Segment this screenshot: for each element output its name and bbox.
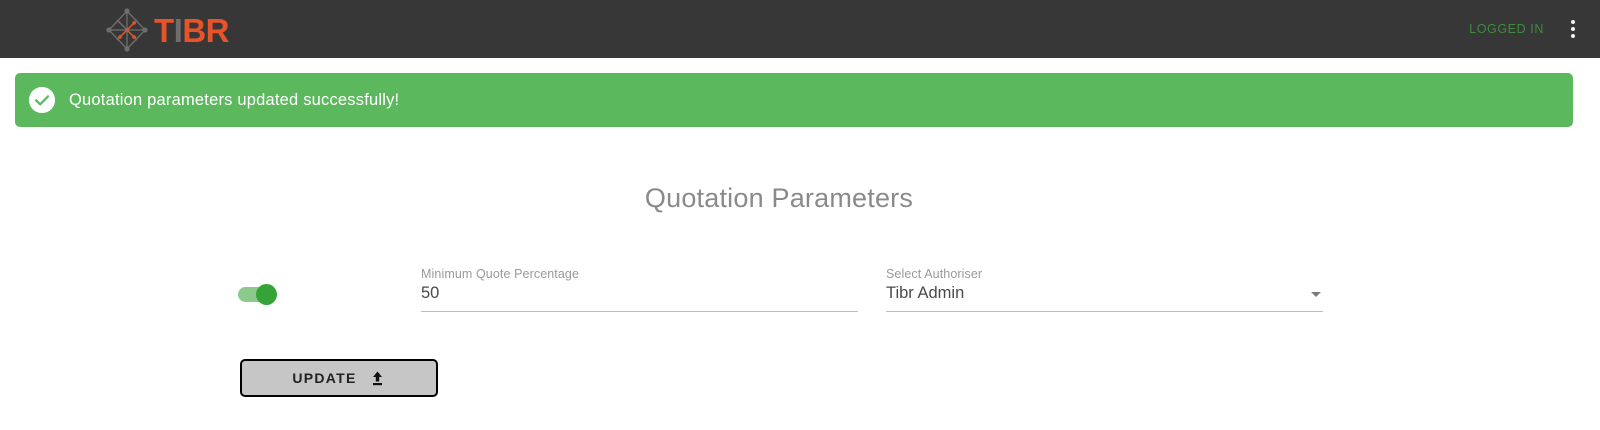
brand-letters-br: BR — [182, 14, 229, 47]
minimum-quote-percentage-label: Minimum Quote Percentage — [421, 267, 579, 281]
chevron-down-icon[interactable] — [1311, 292, 1321, 297]
brand-wordmark: TIBR — [154, 14, 229, 47]
select-authoriser-value[interactable] — [886, 284, 1323, 303]
toggle-thumb — [256, 284, 277, 305]
field-underline — [886, 311, 1323, 312]
success-alert-message: Quotation parameters updated successfull… — [69, 91, 399, 110]
brand-letter-t: T — [154, 14, 174, 47]
status-badge-logged-in: LOGGED IN — [1469, 22, 1544, 36]
more-vertical-icon[interactable] — [1562, 14, 1584, 44]
diamond-network-logo-icon — [104, 8, 150, 52]
kebab-dot — [1571, 20, 1575, 24]
quotation-parameters-toggle[interactable] — [238, 284, 278, 304]
brand-letter-i: I — [174, 14, 183, 47]
app-header: TIBR LOGGED IN — [0, 0, 1600, 58]
update-button-label: UPDATE — [292, 370, 356, 386]
kebab-dot — [1571, 27, 1575, 31]
select-authoriser-label: Select Authoriser — [886, 267, 982, 281]
minimum-quote-percentage-field: Minimum Quote Percentage — [421, 262, 858, 318]
quotation-parameters-form: Minimum Quote Percentage Select Authoris… — [0, 262, 1600, 322]
success-alert: Quotation parameters updated successfull… — [15, 73, 1573, 127]
page-title: Quotation Parameters — [0, 183, 1558, 214]
field-underline — [421, 311, 858, 312]
check-circle-icon — [29, 87, 55, 113]
update-button[interactable]: UPDATE — [240, 359, 438, 397]
brand-logo[interactable]: TIBR — [104, 8, 229, 52]
select-authoriser-field: Select Authoriser — [886, 262, 1323, 318]
kebab-dot — [1571, 34, 1575, 38]
header-right-group: LOGGED IN — [1469, 0, 1584, 58]
minimum-quote-percentage-input[interactable] — [421, 284, 858, 303]
upload-icon — [369, 370, 386, 387]
